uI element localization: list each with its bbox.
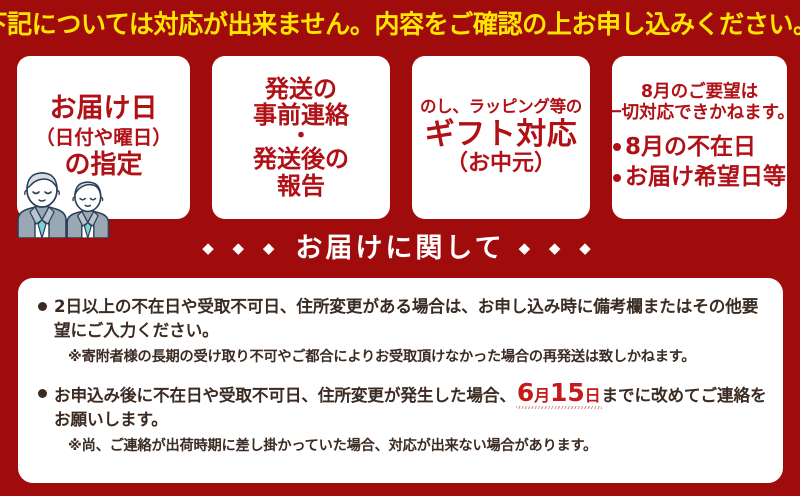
card-line: のし、ラッピング等の [420, 98, 582, 116]
restriction-card-row: お届け日 （日付や曜日） の指定 発送の 事前連絡 ・ 発送後の 報告 のし、ラ… [0, 56, 800, 219]
note-block: 2日以上の不在日や受取不可日、住所変更がある場合は、お申し込み時に備考欄またはそ… [36, 295, 767, 368]
card-line: ギフト対応 [425, 118, 578, 152]
card-line: （日付や曜日） [35, 127, 172, 149]
card-bullet-label: お届け希望日等 [625, 164, 786, 192]
deadline-date-emphasis: 6月15日 [516, 382, 602, 408]
section-title: お届けに関して [295, 235, 504, 262]
diamond-decoration-left-icon: ◆ ◆ ◆ [202, 241, 281, 256]
card-line: 一切対応できかねます。 [612, 104, 787, 124]
deadline-month-unit: 月 [534, 386, 550, 405]
card-line: 発送の [265, 76, 337, 103]
bullet-dot-icon [613, 143, 621, 151]
card-line: の指定 [64, 151, 142, 180]
deadline-day-number: 15 [550, 378, 585, 407]
card-august-requests: 8月のご要望は 一切対応できかねます。 8月の不在日 お届け希望日等 [612, 56, 787, 219]
diamond-decoration-right-icon: ◆ ◆ ◆ [519, 241, 598, 256]
card-line: 発送後の [253, 146, 349, 173]
note-main-row: 2日以上の不在日や受取不可日、住所変更がある場合は、お申し込み時に備考欄またはそ… [36, 295, 767, 342]
delivery-notes-panel: 2日以上の不在日や受取不可日、住所変更がある場合は、お申し込み時に備考欄またはそ… [18, 278, 783, 483]
card-bullet-list: 8月の不在日 お届け希望日等 [613, 134, 786, 192]
bullet-dot-icon [613, 174, 621, 182]
card-line-separator: ・ [290, 129, 312, 146]
note-main-text-before: お申込み後に不在日や受取不可日、住所変更が発生した場合、 [54, 386, 516, 405]
card-delivery-date-designation: お届け日 （日付や曜日） の指定 [17, 56, 190, 219]
card-bullet-item: 8月の不在日 [613, 134, 756, 162]
card-line: （お中元） [446, 152, 556, 177]
card-gift-wrapping: のし、ラッピング等の ギフト対応 （お中元） [412, 56, 590, 219]
bullet-dot-icon [38, 389, 47, 398]
card-line: 8月のご要望は [641, 83, 758, 103]
note-main-row: お申込み後に不在日や受取不可日、住所変更が発生した場合、6月15日までに改めてご… [36, 382, 767, 431]
note-main-text: 2日以上の不在日や受取不可日、住所変更がある場合は、お申し込み時に備考欄またはそ… [54, 295, 767, 342]
card-line: 報告 [277, 173, 325, 200]
section-heading: ◆ ◆ ◆ お届けに関して ◆ ◆ ◆ [0, 224, 800, 272]
note-main-text-composite: お申込み後に不在日や受取不可日、住所変更が発生した場合、6月15日までに改めてご… [54, 382, 767, 431]
header-banner: 下記については対応が出来ません。内容をご確認の上お申し込みください。 [0, 0, 800, 52]
bullet-dot-icon [38, 302, 47, 311]
note-block: お申込み後に不在日や受取不可日、住所変更が発生した場合、6月15日までに改めてご… [36, 382, 767, 457]
card-line: お届け日 [50, 94, 158, 124]
note-sub-text: ※尚、ご連絡が出荷時期に差し掛かっていた場合、対応が出来ない場合があります。 [68, 437, 767, 457]
deadline-day-unit: 日 [585, 386, 601, 405]
note-sub-text: ※寄附者様の長期の受け取り不可やご都合によりお受取頂けなかった場合の再発送は致し… [68, 348, 767, 368]
header-title: 下記については対応が出来ません。内容をご確認の上お申し込みください。 [0, 13, 800, 39]
card-bullet-label: 8月の不在日 [625, 134, 756, 162]
promo-graphic-root: 下記については対応が出来ません。内容をご確認の上お申し込みください。 お届け日 … [0, 0, 800, 496]
deadline-month-number: 6 [517, 378, 534, 407]
card-shipping-notification: 発送の 事前連絡 ・ 発送後の 報告 [212, 56, 390, 219]
card-bullet-item: お届け希望日等 [613, 164, 786, 192]
